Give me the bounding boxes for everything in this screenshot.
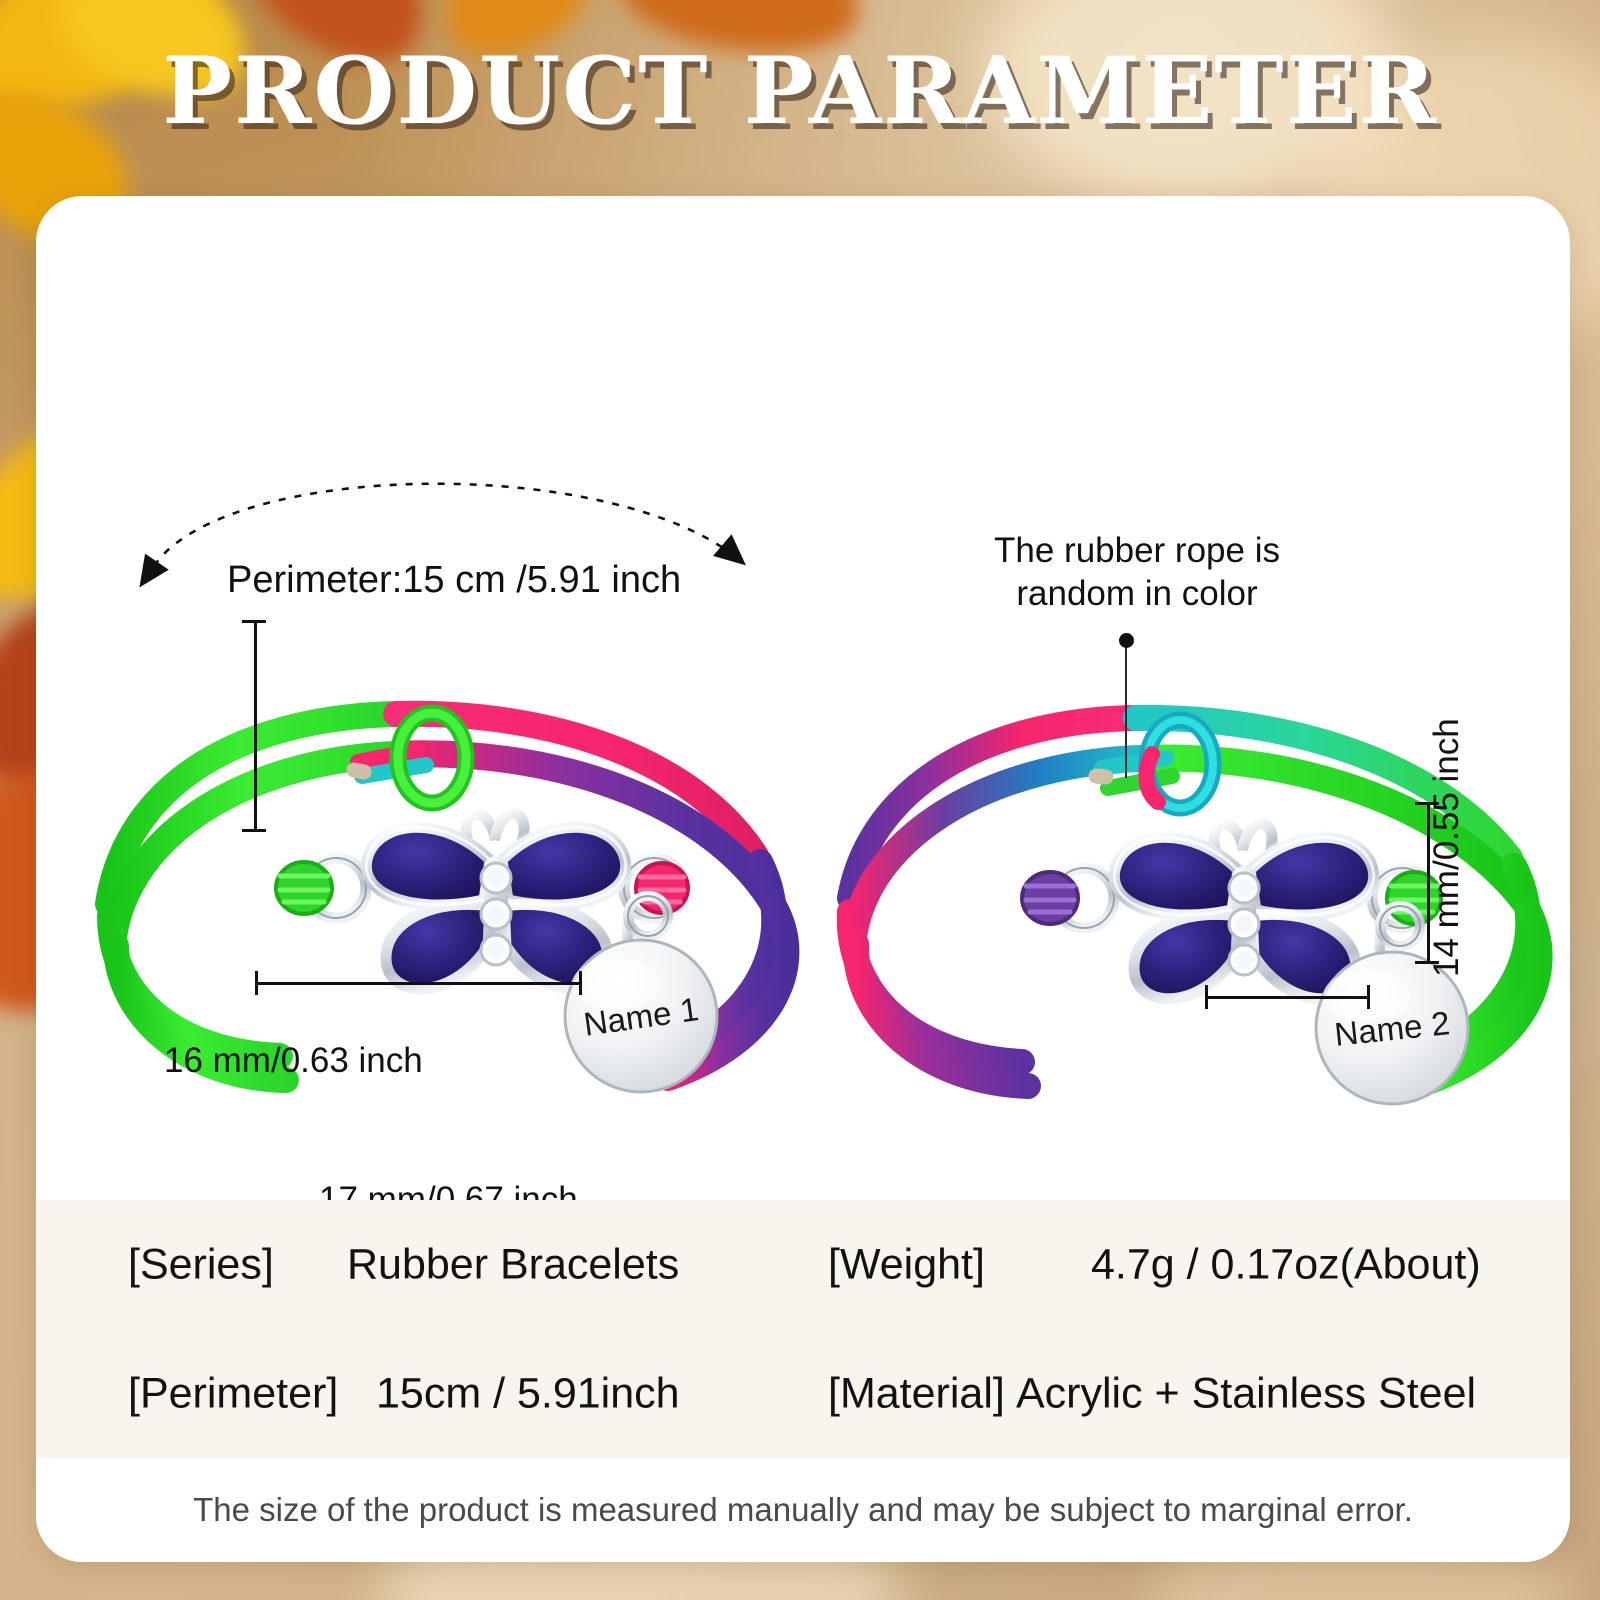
butterfly-height-label: 16 mm/0.63 inch [164,1041,423,1081]
perimeter-label: Perimeter:15 cm /5.91 inch [227,559,681,602]
disclaimer-area: The size of the product is measured manu… [36,1458,1570,1562]
bracelet-left: Name 1 [96,666,836,1086]
callout-leader-dot [1119,633,1134,648]
spec-value-material: Acrylic + Stainless Steel [1016,1369,1476,1418]
disc-height-label: 14 mm/0.55 inch [1427,718,1467,977]
spec-row: [Perimeter] 15cm / 5.91inch [Material] A… [36,1329,1570,1458]
spec-value-weight: 4.7g / 0.17oz(About) [1091,1240,1481,1289]
cord-tail-right [1096,758,1172,788]
callout-leader-line [1125,640,1127,778]
cord-wrap-purple-right [1022,872,1078,924]
product-parameter-card: Name 1 [36,196,1570,1562]
rope-color-note: The rubber rope is random in color [987,529,1287,615]
spec-key-material: [Material] [828,1369,1005,1418]
spec-key-perimeter: [Perimeter] [128,1369,338,1418]
cord-wrap-green-left [276,862,332,914]
crystal-stones-left [481,863,511,965]
disclaimer-text: The size of the product is measured manu… [36,1491,1570,1529]
spec-row: [Series] Rubber Bracelets [Weight] 4.7g … [36,1200,1570,1329]
crystal-stones-right [1229,873,1259,975]
specification-panel: [Series] Rubber Bracelets [Weight] 4.7g … [36,1200,1570,1458]
spec-key-series: [Series] [128,1240,274,1289]
page-title: PRODUCT PARAMETER [0,36,1600,145]
spec-value-series: Rubber Bracelets [347,1240,679,1289]
spec-key-weight: [Weight] [828,1240,985,1289]
spec-value-perimeter: 15cm / 5.91inch [376,1369,680,1418]
